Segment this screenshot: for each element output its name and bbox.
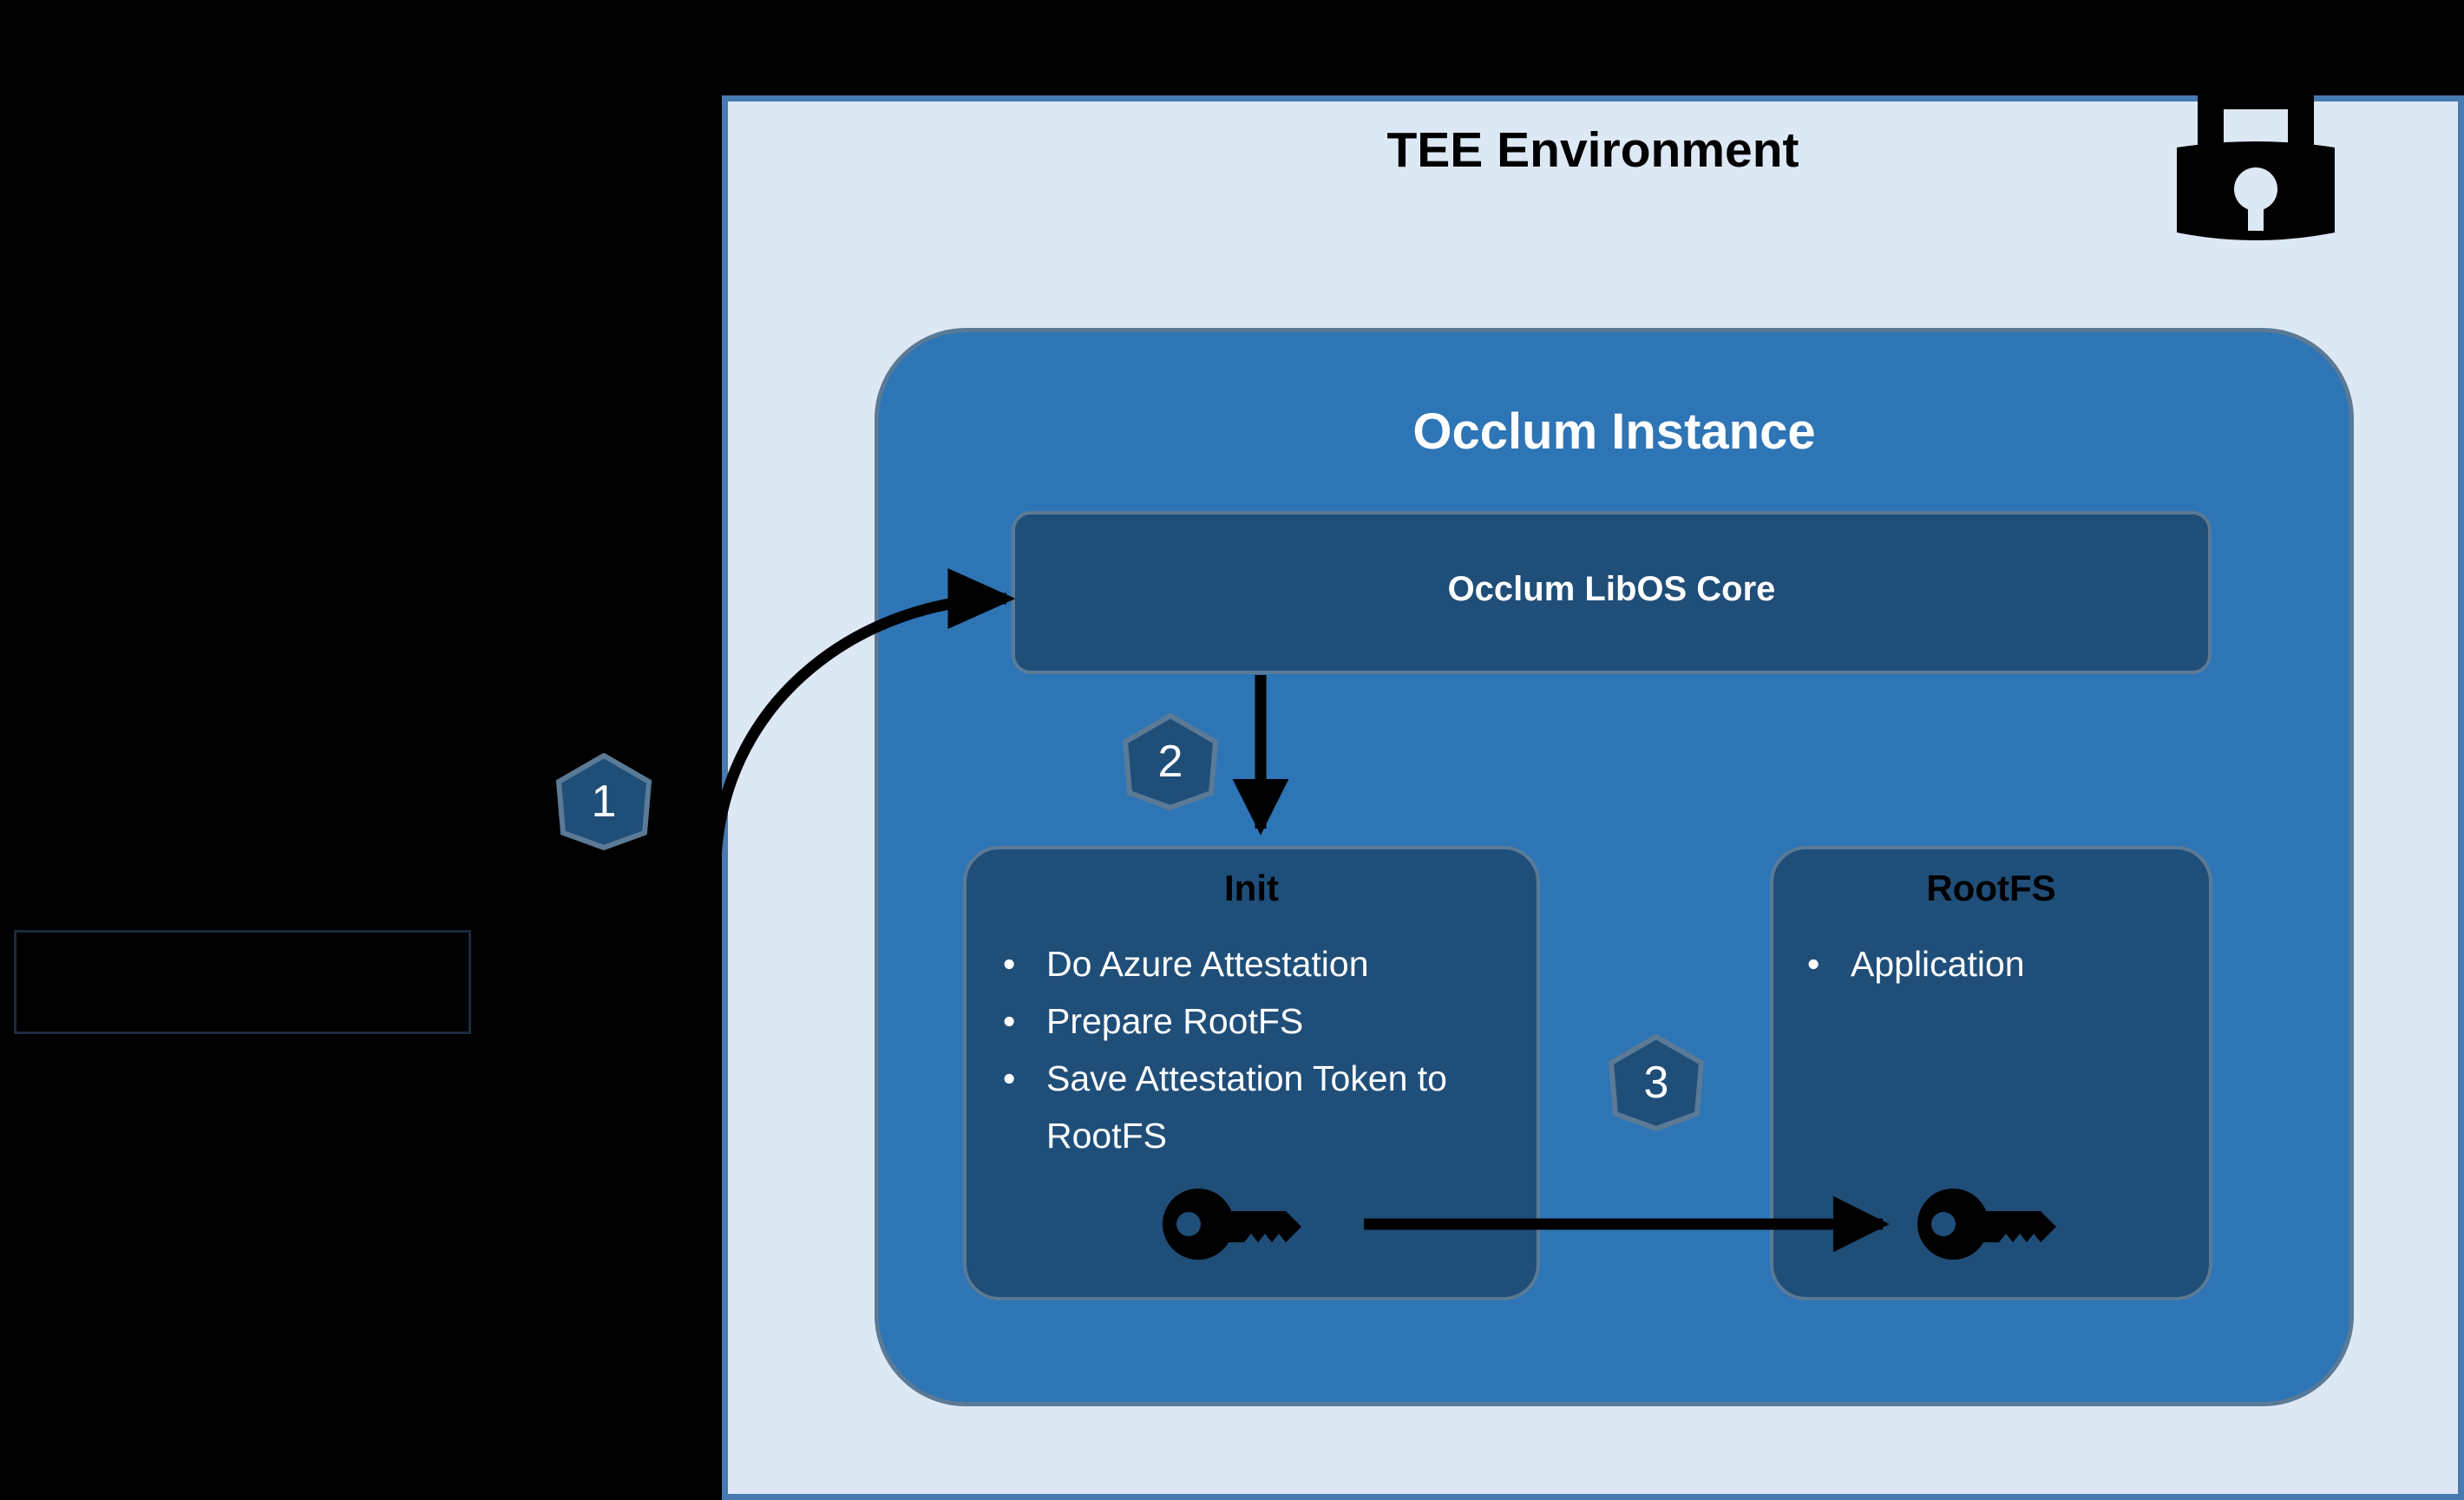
- step-badge-1: 1: [551, 753, 657, 850]
- diagram-canvas: TEE Environment Occlum Instance Occlum L…: [0, 0, 2464, 1500]
- init-bullet-list: Do Azure Attestation Prepare RootFS Save…: [996, 935, 1517, 1164]
- left-placeholder-box: [14, 930, 471, 1034]
- init-title: Init: [963, 868, 1540, 909]
- step-badge-3: 3: [1603, 1034, 1709, 1131]
- list-item: Prepare RootFS: [996, 992, 1517, 1050]
- step-badge-2: 2: [1117, 713, 1223, 810]
- step-badge-number: 3: [1603, 1034, 1709, 1131]
- key-icon: [1917, 1189, 2067, 1260]
- step-badge-number: 2: [1117, 713, 1223, 810]
- list-item: Do Azure Attestation: [996, 935, 1517, 992]
- list-item: Save Attestation Token to RootFS: [996, 1050, 1517, 1164]
- list-item: Application: [1800, 935, 2191, 992]
- occlum-instance-title: Occlum Instance: [875, 403, 2354, 461]
- step-badge-number: 1: [551, 753, 657, 850]
- key-icon: [1163, 1189, 1312, 1260]
- occlum-libos-core-label: Occlum LibOS Core: [1012, 570, 2212, 609]
- rootfs-title: RootFS: [1770, 868, 2212, 909]
- rootfs-bullet-list: Application: [1800, 935, 2191, 992]
- lock-icon: [2165, 94, 2347, 254]
